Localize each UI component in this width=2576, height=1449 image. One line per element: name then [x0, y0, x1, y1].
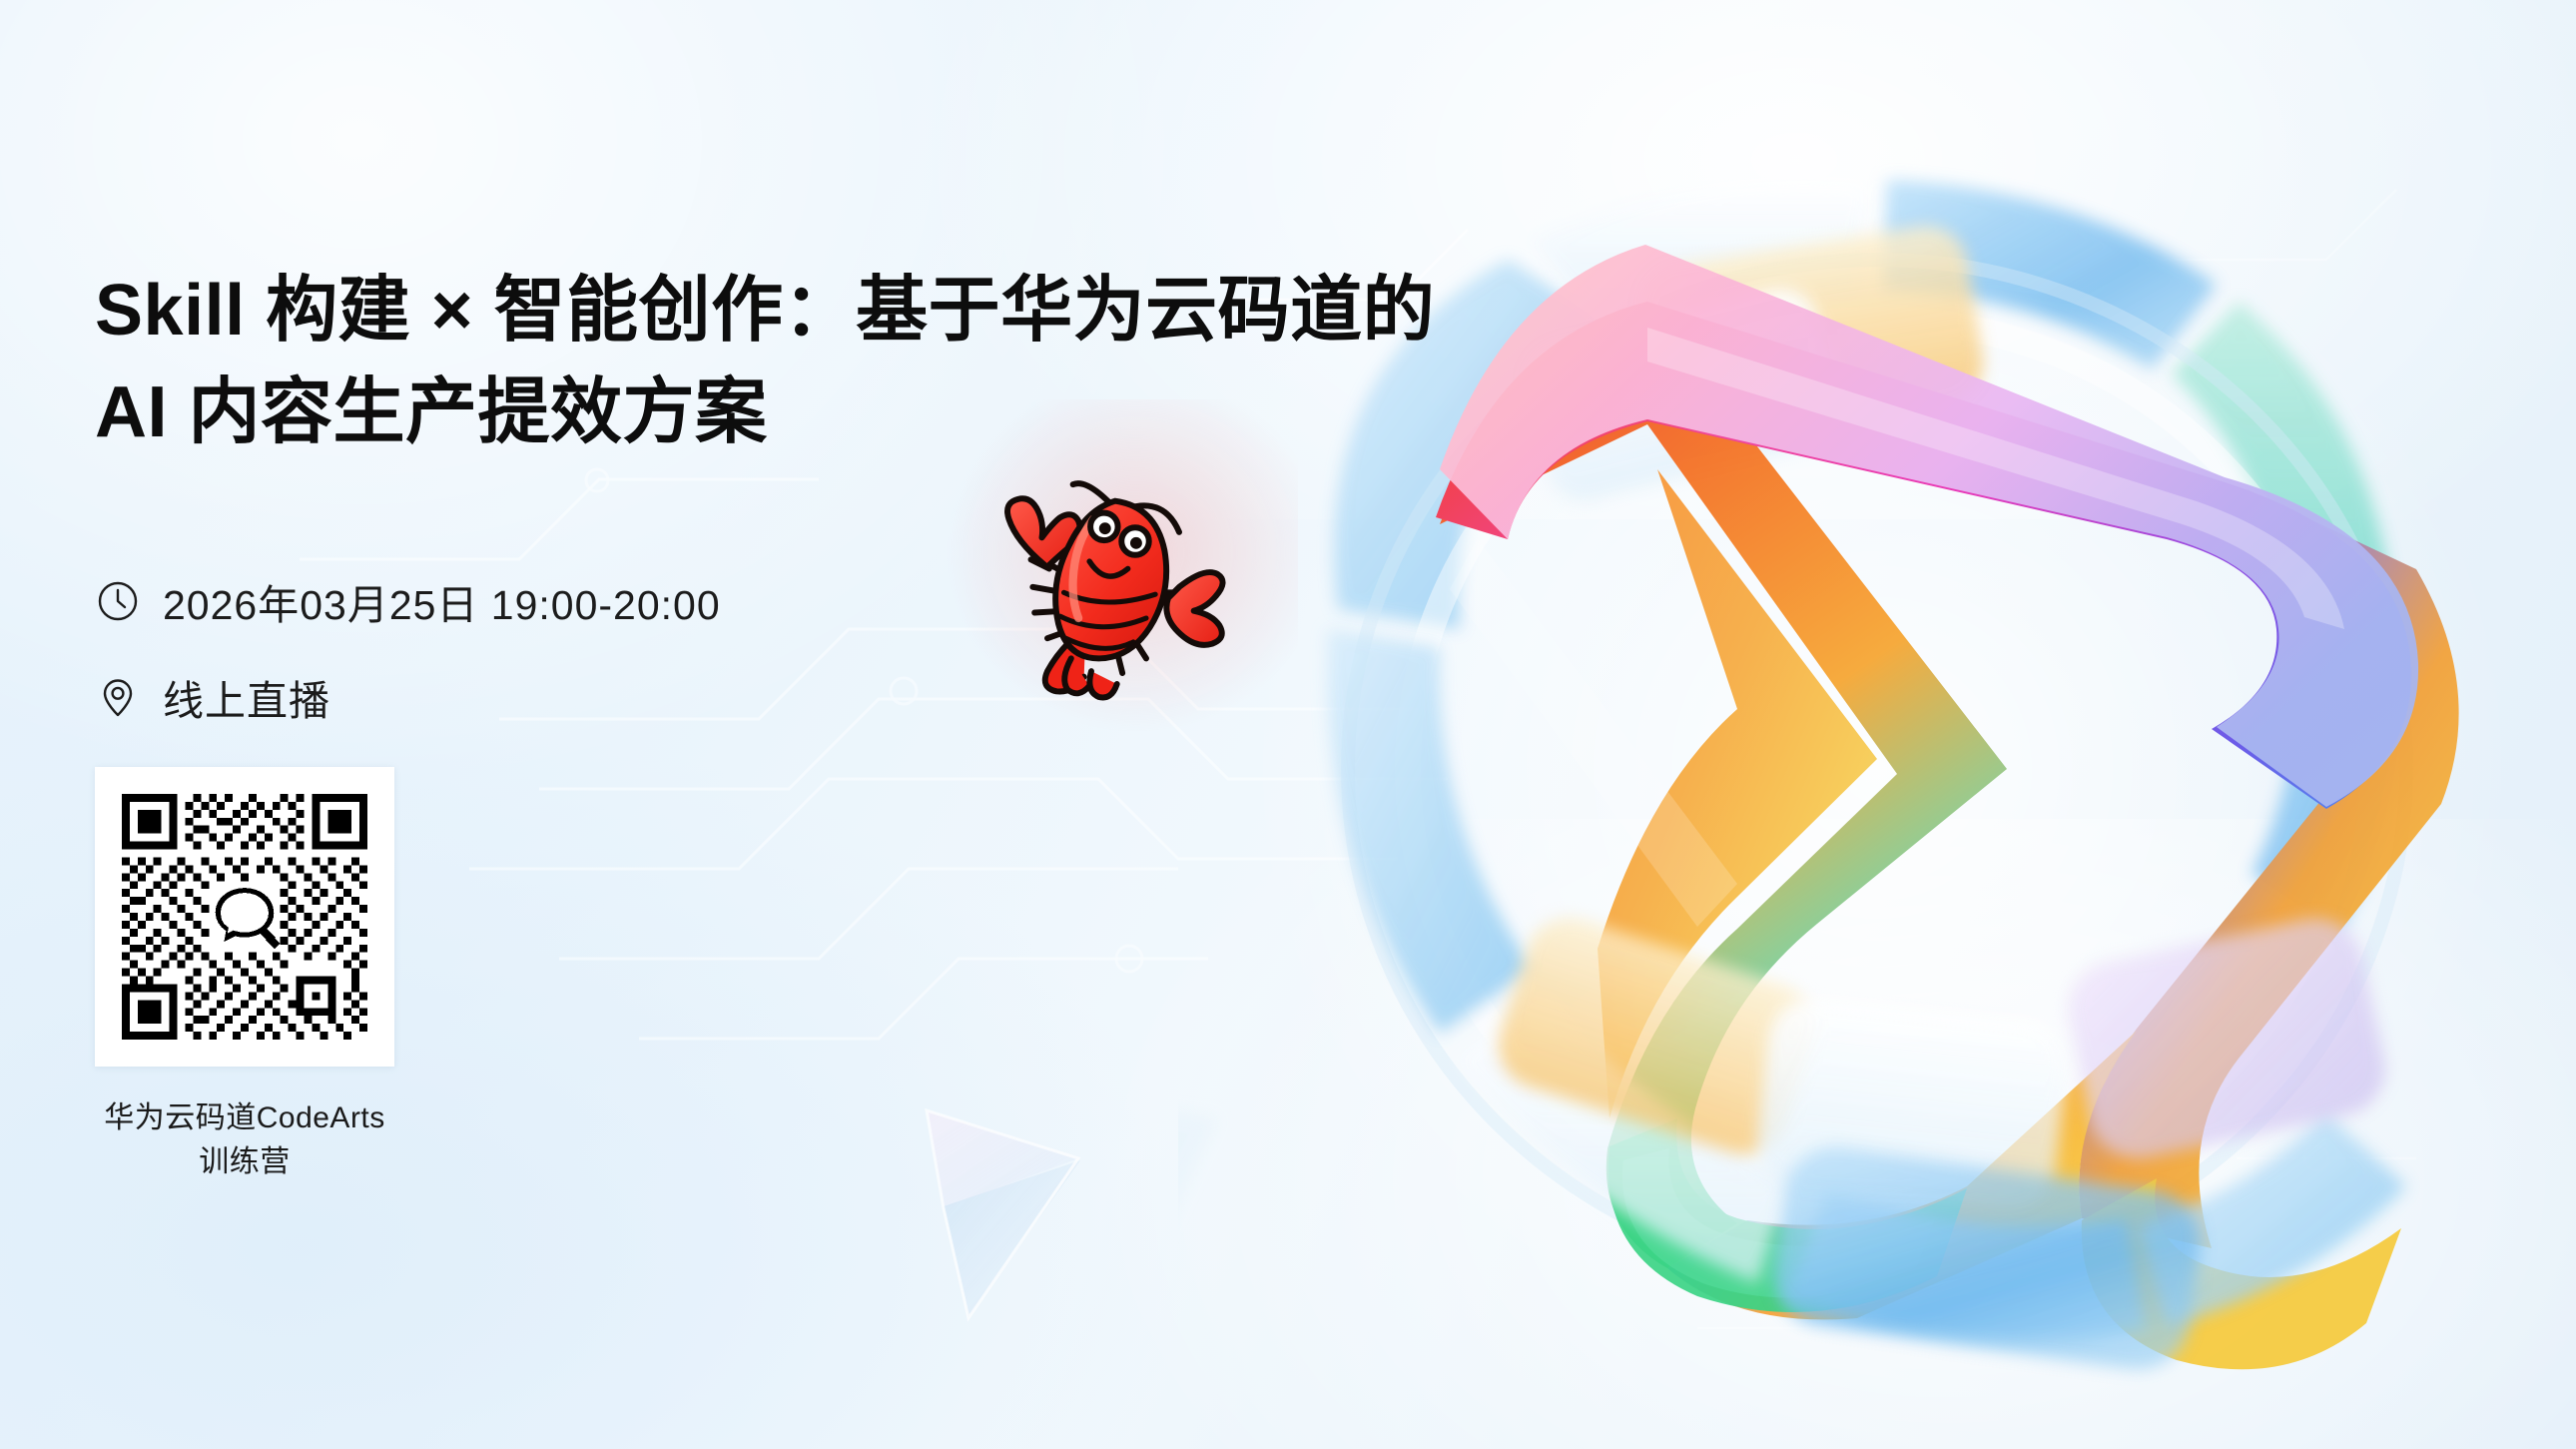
poster-content-column: Skill 构建 × 智能创作：基于华为云码道的 AI 内容生产提效方案 202… — [95, 260, 1253, 1180]
qr-block: 华为云码道CodeArts训练营 — [95, 767, 1253, 1180]
event-poster: Skill 构建 × 智能创作：基于华为云码道的 AI 内容生产提效方案 202… — [0, 0, 2576, 1449]
qr-code-matrix — [114, 786, 375, 1048]
location-pin-icon — [95, 674, 141, 720]
page-title-line-1: Skill 构建 × 智能创作：基于华为云码道的 — [95, 260, 1253, 362]
clock-icon — [95, 578, 141, 624]
lobster-icon — [973, 431, 1253, 706]
qr-caption: 华为云码道CodeArts训练营 — [95, 1092, 394, 1180]
event-datetime-text: 2026年03月25日 19:00-20:00 — [163, 571, 721, 631]
qr-code[interactable] — [95, 767, 394, 1067]
event-venue-text: 线上直播 — [163, 667, 330, 727]
